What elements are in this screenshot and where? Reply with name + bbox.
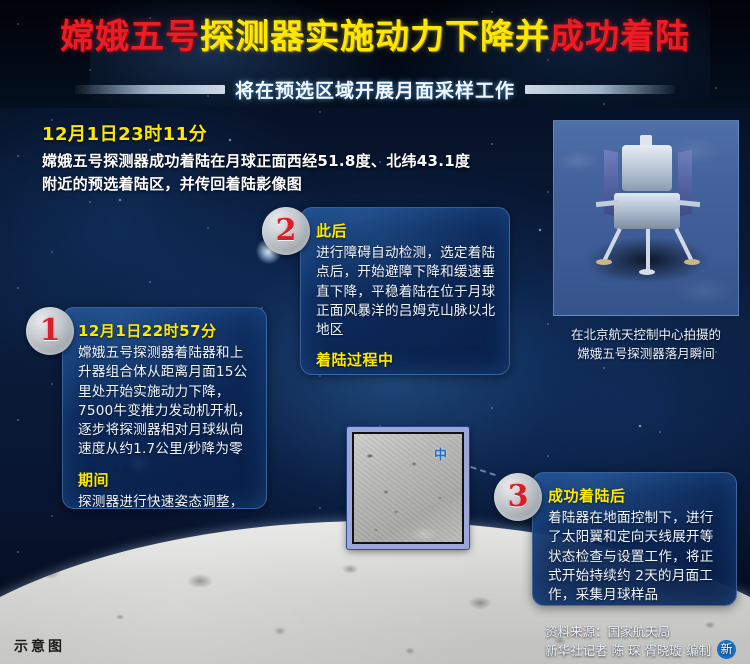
lander-spacecraft-illustration <box>594 143 702 275</box>
step-2-body: 进行障碍自动检测，选定着陆点后，开始避障下降和缓速垂直下降，平稳着陆在位于月球正… <box>316 244 496 340</box>
infographic-canvas: 示意图 嫦娥五号探测器实施动力下降并成功着陆 将在预选区域开展月面采样工作 12… <box>0 0 750 664</box>
xinhua-logo-icon: 新 <box>717 640 736 659</box>
step-2-card: 此后 进行障碍自动检测，选定着陆点后，开始避障下降和缓速垂直下降，平稳着陆在位于… <box>300 207 510 375</box>
schematic-label: 示意图 <box>14 636 65 656</box>
step-1-body-2: 探测器进行快速姿态调整，逐渐接近月表 <box>78 493 253 509</box>
step-3-number-badge: 3 <box>494 473 542 521</box>
intro-block: 12月1日23时11分 嫦娥五号探测器成功着陆在月球正面西经51.8度、北纬43… <box>42 120 522 195</box>
step-1-heading: 12月1日22时57分 <box>78 320 253 341</box>
image-watermark: 中 <box>434 444 448 463</box>
step-3-card: 成功着陆后 着陆器在地面控制下，进行了太阳翼和定向天线展开等状态检查与设置工作，… <box>532 472 737 606</box>
lander-body <box>614 193 680 229</box>
landing-leg-left <box>602 228 621 262</box>
footer-credit: 新华社记者 陈 琛 胥晓璇 编制 <box>545 641 711 660</box>
landing-pad-left <box>596 259 612 265</box>
step-2-heading: 此后 <box>316 220 496 241</box>
landing-area-image: 中 <box>347 427 469 549</box>
page-subtitle: 将在预选区域开展月面采样工作 <box>235 76 515 103</box>
lander-photo <box>553 120 739 316</box>
lander-photo-caption: 在北京航天控制中心拍摄的 嫦娥五号探测器落月瞬间 <box>553 326 739 364</box>
step-2-heading-2: 着陆过程中 <box>316 349 496 370</box>
caption-line-1: 在北京航天控制中心拍摄的 <box>553 326 739 345</box>
title-segment-yellow: 探测器实施动力下降并 <box>200 17 550 57</box>
step-2-body-2: 着陆器配置的降落相机拍摄了着陆区域影像图 <box>316 373 496 375</box>
landing-leg-right <box>674 228 693 262</box>
step-1-body: 嫦娥五号探测器着陆器和上升器组合体从距离月面15公里处开始实施动力下降，7500… <box>78 344 253 460</box>
step-2-number: 2 <box>276 216 297 246</box>
ascender-module <box>622 145 672 191</box>
title-segment-red-2: 成功着陆 <box>550 17 690 57</box>
connector-line <box>470 466 495 476</box>
subtitle-row: 将在预选区域开展月面采样工作 <box>0 76 750 103</box>
landing-pad-right <box>684 259 700 265</box>
step-3-heading: 成功着陆后 <box>548 485 723 506</box>
step-1-number: 1 <box>40 316 61 346</box>
step-1-number-badge: 1 <box>26 307 74 355</box>
solar-panel-right-icon <box>678 150 692 217</box>
landing-area-image-inner: 中 <box>354 434 462 542</box>
header-banner: 嫦娥五号探测器实施动力下降并成功着陆 将在预选区域开展月面采样工作 <box>0 0 750 108</box>
step-2-number-badge: 2 <box>262 207 310 255</box>
step-1-heading-2: 期间 <box>78 469 253 490</box>
intro-line-2: 附近的预选着陆区，并传回着陆影像图 <box>42 173 522 196</box>
step-1-card: 12月1日22时57分 嫦娥五号探测器着陆器和上升器组合体从距离月面15公里处开… <box>62 307 267 509</box>
intro-line-1: 嫦娥五号探测器成功着陆在月球正面西经51.8度、北纬43.1度 <box>42 150 522 173</box>
footer-credits: 资料来源：国家航天局 新华社记者 陈 琛 胥晓璇 编制 新 <box>545 622 736 661</box>
footer-source: 资料来源：国家航天局 <box>545 622 711 641</box>
landing-pad-center <box>639 269 655 275</box>
intro-timestamp: 12月1日23时11分 <box>42 120 522 146</box>
subtitle-rule-left <box>75 85 225 94</box>
title-segment-red-1: 嫦娥五号 <box>60 17 200 57</box>
landing-leg-center <box>646 229 650 271</box>
caption-line-2: 嫦娥五号探测器落月瞬间 <box>553 345 739 364</box>
page-title: 嫦娥五号探测器实施动力下降并成功着陆 <box>0 20 750 54</box>
step-3-number: 3 <box>508 482 529 512</box>
step-3-body: 着陆器在地面控制下，进行了太阳翼和定向天线展开等状态检查与设置工作，将正式开始持… <box>548 509 723 605</box>
subtitle-rule-right <box>525 85 675 94</box>
